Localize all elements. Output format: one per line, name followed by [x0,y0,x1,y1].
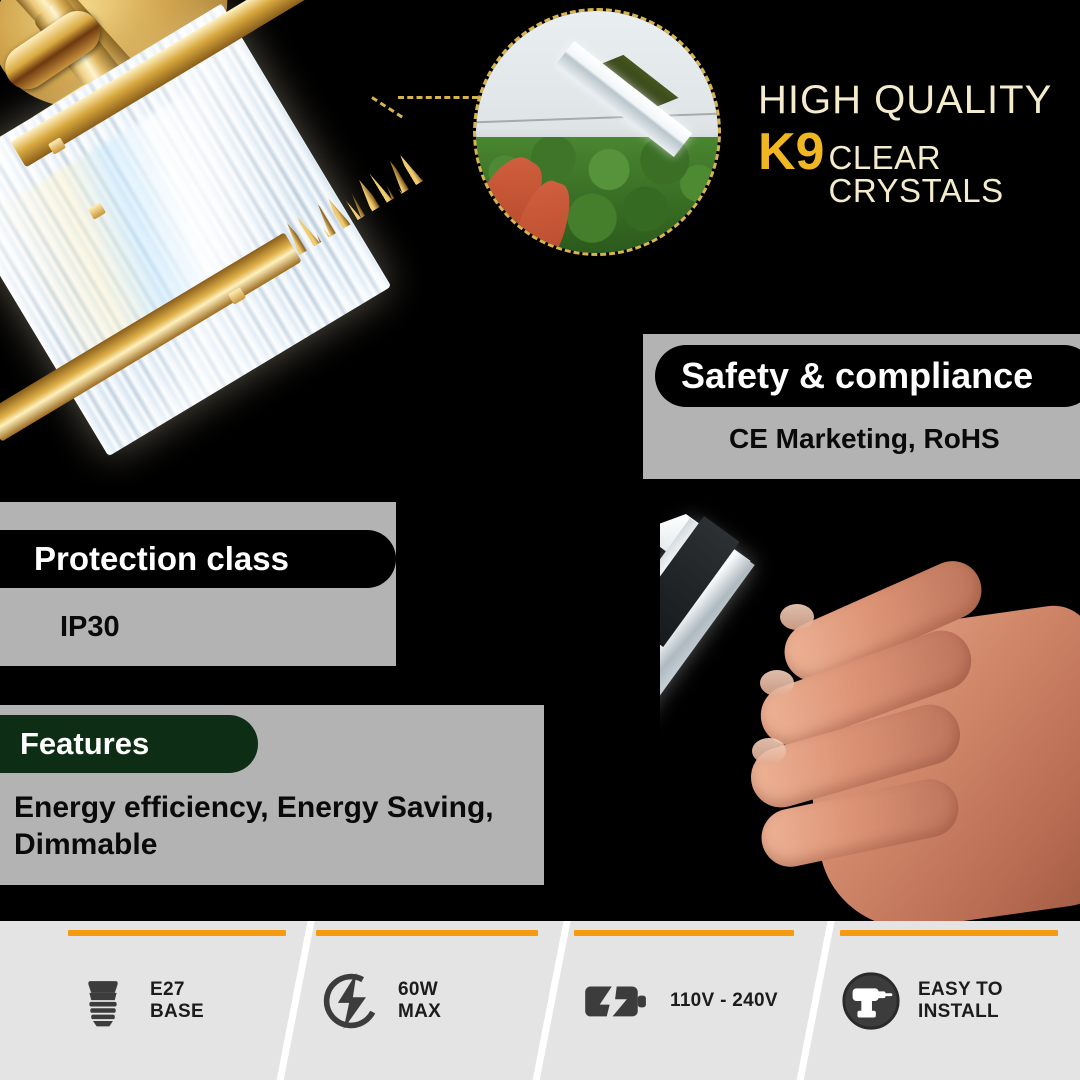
spec-item-easy-install: EASY TO INSTALL [838,921,1003,1080]
spec-divider [529,921,574,1080]
spec-label-60w-max: 60W MAX [398,979,441,1022]
bulb-base-icon [70,968,136,1034]
callout-leader-line [398,96,478,99]
spec-divider [273,921,318,1080]
spec-label-line2: MAX [398,1001,441,1022]
spec-label-line1: 110V - 240V [670,990,778,1011]
spec-item-voltage: 110V - 240V [576,921,778,1080]
panel-value-features: Energy efficiency, Energy Saving, Dimmab… [14,790,542,863]
panel-value-safety-compliance: CE Marketing, RoHS [729,422,1069,456]
headline-line-2: CLEAR CRYSTALS [828,141,1078,207]
lightning-bolt-circle-icon [318,968,384,1034]
spec-divider [793,921,838,1080]
spec-label-line2: INSTALL [918,1001,1003,1022]
fingernail [752,738,786,764]
panel-title-safety-compliance: Safety & compliance [655,345,1080,407]
spec-label-line1: E27 [150,979,204,1000]
spec-item-60w-max: 60W MAX [318,921,441,1080]
spec-label-line2: BASE [150,1001,204,1022]
spec-strip: E27 BASE 60W MAX [0,921,1080,1080]
panel-title-protection-class: Protection class [0,530,396,588]
drill-circle-icon [838,968,904,1034]
spec-label-voltage: 110V - 240V [670,990,778,1011]
spec-label-line1: 60W [398,979,441,1000]
hand-holding-crystal-photo [660,500,1080,930]
battery-bolt-icon [576,968,656,1034]
fingernail [780,604,814,630]
spec-label-e27-base: E27 BASE [150,979,204,1022]
panel-value-protection-class: IP30 [60,610,360,645]
headline-line-1: HIGH QUALITY [758,80,1078,120]
headline: HIGH QUALITY K9 CLEAR CRYSTALS [758,80,1078,207]
gold-crystal-wall-sconce-photo [0,0,480,490]
fingernail [760,670,794,696]
spec-label-easy-install: EASY TO INSTALL [918,979,1003,1022]
headline-k9: K9 [758,126,824,178]
panel-title-features: Features [0,715,258,773]
infographic-canvas: HIGH QUALITY K9 CLEAR CRYSTALS Safety & … [0,0,1080,1080]
spec-label-line1: EASY TO [918,979,1003,1000]
spec-item-e27-base: E27 BASE [70,921,204,1080]
k9-crystal-zoom-photo [473,8,721,256]
